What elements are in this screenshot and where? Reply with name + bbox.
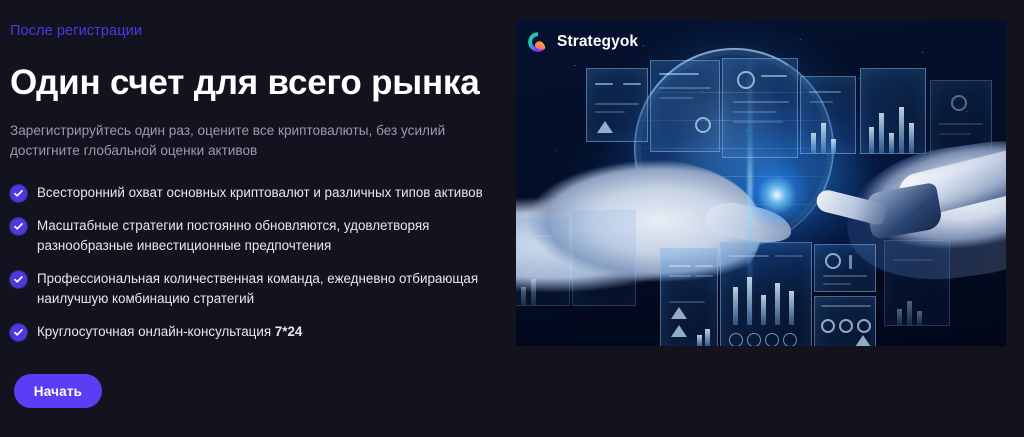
hero-subtitle: Зарегистрируйтесь один раз, оцените все …	[10, 121, 480, 161]
holo-panel-left-lower-2	[572, 210, 636, 306]
strategyok-swirl-icon	[526, 30, 550, 54]
holo-panel-metrics	[586, 68, 648, 142]
holo-panel-side	[800, 76, 856, 154]
check-circle-icon	[10, 218, 27, 235]
holo-panel-lower-left	[660, 248, 718, 346]
hero-text-column: После регистрации Один счет для всего ры…	[10, 22, 510, 355]
touch-spark-decoration	[742, 160, 812, 230]
brand-name: Strategyok	[557, 33, 638, 51]
list-item: Всесторонний охват основных криптовалют …	[10, 183, 510, 203]
list-item: Круглосуточная онлайн-консультация 7*24	[10, 322, 510, 342]
check-circle-icon	[10, 324, 27, 341]
holo-panel-left-lower	[516, 218, 570, 306]
holo-panel-bars	[860, 68, 926, 154]
feature-text: Масштабные стратегии постоянно обновляют…	[37, 216, 507, 256]
list-item: Масштабные стратегии постоянно обновляют…	[10, 216, 510, 256]
list-item: Профессиональная количественная команда,…	[10, 269, 510, 309]
check-circle-icon	[10, 185, 27, 202]
holo-panel-list	[650, 60, 720, 152]
hero-image: Strategyok	[516, 20, 1006, 346]
hero-eyebrow: После регистрации	[10, 22, 510, 40]
feature-text: Всесторонний охват основных криптовалют …	[37, 183, 483, 203]
feature-text: Круглосуточная онлайн-консультация 7*24	[37, 322, 302, 342]
holo-panel-lower-right-top	[814, 244, 876, 292]
feature-list: Всесторонний охват основных криптовалют …	[10, 183, 510, 342]
feature-text: Профессиональная количественная команда,…	[37, 269, 507, 309]
page-title: Один счет для всего рынка	[10, 62, 510, 104]
landing-hero-page: После регистрации Один счет для всего ры…	[0, 0, 1024, 437]
holo-panel-lower-right-bottom	[814, 296, 876, 346]
holo-panel-lower-far-right	[884, 240, 950, 326]
start-button[interactable]: Начать	[14, 374, 102, 408]
holo-panel-donut	[722, 58, 798, 158]
holo-panel-lower-center	[720, 242, 812, 346]
brand-logo[interactable]: Strategyok	[526, 30, 638, 54]
check-circle-icon	[10, 271, 27, 288]
